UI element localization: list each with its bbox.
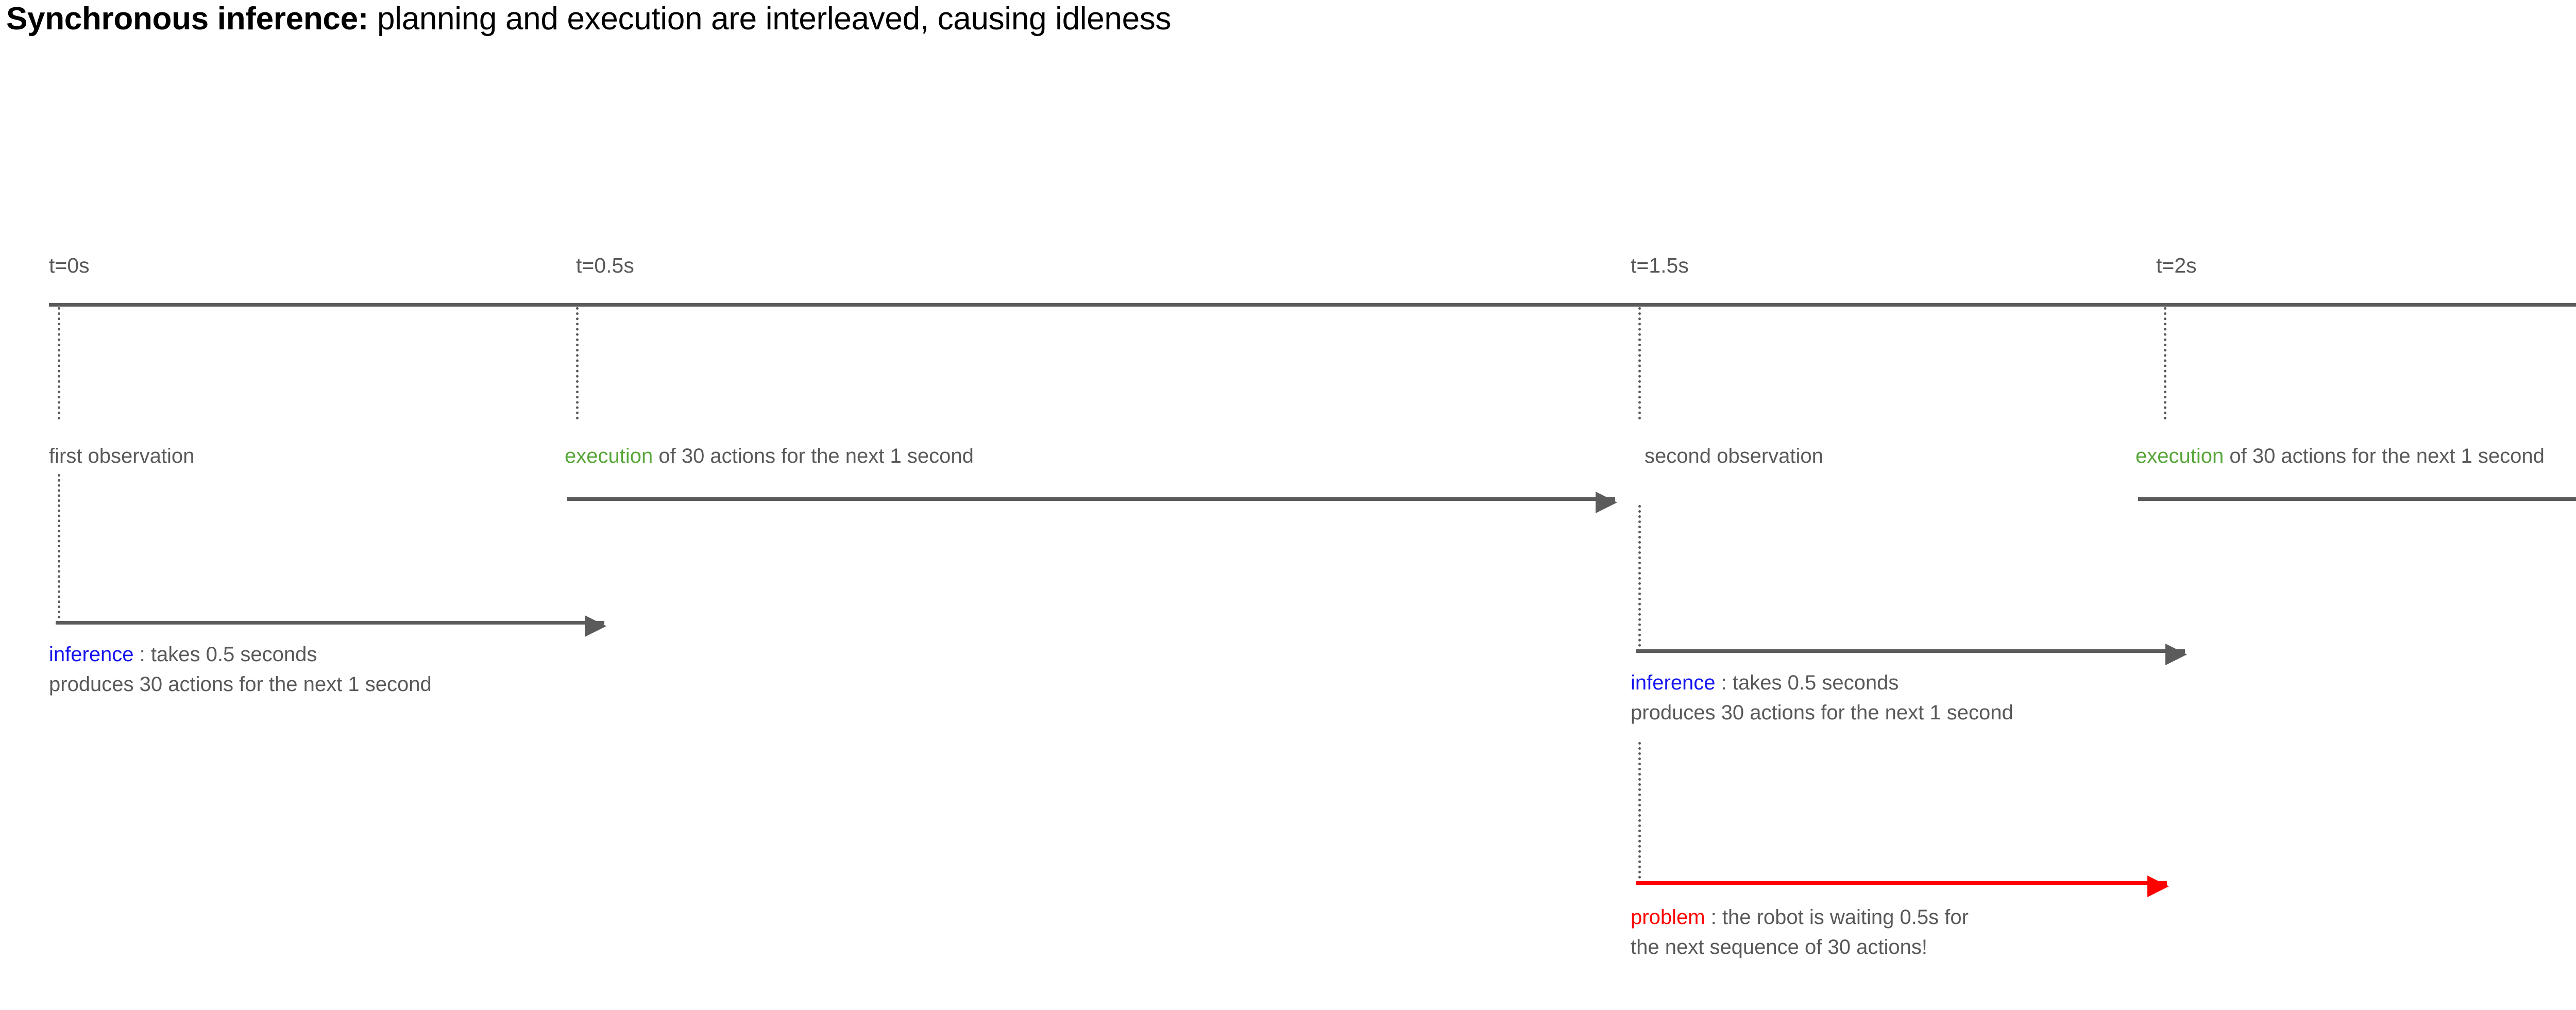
execution-1-rest: of 30 actions for the next 1 second [653, 445, 974, 467]
problem-label: problem : the robot is waiting 0.5s for … [1631, 907, 1969, 957]
execution-2-arrow [2138, 497, 2576, 501]
first-observation-label: first observation [49, 446, 194, 466]
inference-2-arrow [1636, 649, 2185, 653]
problem-line2: the next sequence of 30 actions! [1631, 937, 1969, 957]
tick-label-t0: t=0s [49, 255, 90, 276]
dotted-connector-t2 [2164, 307, 2166, 419]
inference-1-line2: produces 30 actions for the next 1 secon… [49, 674, 432, 695]
dotted-connector-t0-lower [58, 474, 60, 618]
tick-label-t2: t=2s [2156, 255, 2197, 276]
dotted-connector-t0-upper [58, 307, 60, 419]
execution-1-arrow [567, 497, 1615, 501]
page-title-rest: planning and execution are interleaved, … [368, 1, 1171, 37]
dotted-connector-t05 [576, 307, 579, 419]
page-title: Synchronous inference: planning and exec… [6, 3, 1171, 35]
problem-rest: : the robot is waiting 0.5s for [1705, 906, 1969, 929]
inference-1-rest: : takes 0.5 seconds [134, 643, 317, 666]
problem-arrow [1636, 881, 2167, 885]
execution-2-rest: of 30 actions for the next 1 second [2224, 445, 2545, 467]
page-title-strong: Synchronous inference: [6, 1, 368, 37]
dotted-connector-t15-upper [1638, 307, 1641, 419]
inference-1-arrow [56, 621, 604, 625]
execution-1-accent: execution [565, 445, 653, 467]
execution-2-label: execution of 30 actions for the next 1 s… [2136, 446, 2545, 466]
tick-label-t15: t=1.5s [1631, 255, 1689, 276]
inference-2-rest: : takes 0.5 seconds [1716, 671, 1899, 694]
tick-label-t05: t=0.5s [576, 255, 634, 276]
inference-2-line2: produces 30 actions for the next 1 secon… [1631, 702, 2013, 723]
execution-2-accent: execution [2136, 445, 2224, 467]
inference-2-label: inference : takes 0.5 seconds produces 3… [1631, 672, 2013, 723]
problem-accent: problem [1631, 906, 1705, 929]
second-observation-label: second observation [1645, 446, 1823, 466]
inference-1-accent: inference [49, 643, 134, 666]
inference-1-label: inference : takes 0.5 seconds produces 3… [49, 644, 432, 695]
dotted-connector-t15-mid [1638, 505, 1641, 647]
execution-1-label: execution of 30 actions for the next 1 s… [565, 446, 974, 466]
inference-2-accent: inference [1631, 671, 1716, 694]
main-timeline-axis [49, 303, 2576, 307]
dotted-connector-t15-lower [1638, 742, 1641, 879]
